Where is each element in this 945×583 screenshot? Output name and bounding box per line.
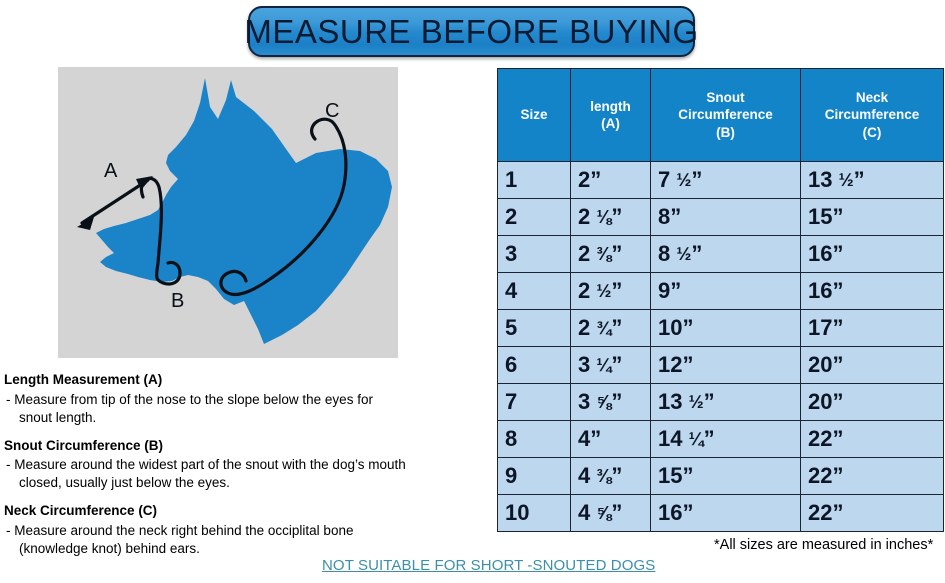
column-header-size: Size (498, 69, 571, 162)
fraction-glyph: ⅛ (596, 207, 611, 228)
column-header-neck: Neck Circumference (C) (801, 69, 944, 162)
cell-neck: 20” (801, 384, 944, 421)
cell-snout: 15” (651, 458, 801, 495)
table-row: 73 ⅝”13 ½”20” (498, 384, 944, 421)
instruction-body-neck: - Measure around the neck right behind t… (4, 522, 484, 558)
column-header-length-line2: (A) (601, 116, 620, 131)
instruction-neck-line2: (knowledge knot) behind ears. (6, 540, 484, 558)
dog-measurement-diagram: A B C (58, 67, 398, 358)
diagram-label-a: A (104, 160, 118, 182)
cell-size: 6 (498, 347, 571, 384)
cell-length: 2 ⅛” (571, 199, 651, 236)
fraction-glyph: ½ (676, 170, 691, 191)
table-row: 42 ½”9”16” (498, 273, 944, 310)
cell-length: 4 ⅜” (571, 458, 651, 495)
instruction-neck-line1: - Measure around the neck right behind t… (6, 523, 353, 538)
cell-snout: 10” (651, 310, 801, 347)
cell-neck: 17” (801, 310, 944, 347)
table-row: 63 ¼”12”20” (498, 347, 944, 384)
cell-neck: 13 ½” (801, 162, 944, 199)
cell-neck: 16” (801, 273, 944, 310)
fraction-glyph: ⅝ (596, 503, 611, 524)
cell-neck: 15” (801, 199, 944, 236)
cell-size: 1 (498, 162, 571, 199)
fraction-glyph: ⅝ (596, 392, 611, 413)
table-row: 94 ⅜”15”22” (498, 458, 944, 495)
cell-size: 5 (498, 310, 571, 347)
cell-size: 10 (498, 495, 571, 532)
cell-snout: 9” (651, 273, 801, 310)
size-chart-table: Size length (A) Snout Circumference (B) … (497, 68, 944, 532)
instruction-group-snout: Snout Circumference (B) - Measure around… (4, 438, 484, 493)
table-row: 104 ⅝”16”22” (498, 495, 944, 532)
page-title: MEASURE BEFORE BUYING (244, 13, 698, 51)
table-row: 84”14 ¼”22” (498, 421, 944, 458)
fraction-glyph: ¼ (596, 355, 611, 376)
column-header-size-line1: Size (520, 107, 547, 122)
instruction-heading-length: Length Measurement (A) (4, 372, 484, 389)
instruction-group-neck: Neck Circumference (C) - Measure around … (4, 503, 484, 558)
column-header-snout-line2: Circumference (678, 107, 773, 122)
units-note: *All sizes are measured in inches* (714, 537, 933, 553)
fraction-glyph: ¾ (596, 318, 611, 339)
cell-snout: 7 ½” (651, 162, 801, 199)
column-header-neck-line1: Neck (856, 90, 888, 105)
cell-size: 3 (498, 236, 571, 273)
cell-length: 2 ½” (571, 273, 651, 310)
table-row: 12”7 ½”13 ½” (498, 162, 944, 199)
table-row: 32 ⅜”8 ½”16” (498, 236, 944, 273)
cell-length: 4 ⅝” (571, 495, 651, 532)
cell-length: 2 ¾” (571, 310, 651, 347)
cell-size: 7 (498, 384, 571, 421)
size-chart-header: Size length (A) Snout Circumference (B) … (498, 69, 944, 162)
column-header-neck-line3: (C) (863, 125, 882, 140)
instruction-group-length: Length Measurement (A) - Measure from ti… (4, 372, 484, 427)
instruction-body-snout: - Measure around the widest part of the … (4, 456, 484, 492)
cell-length: 2 ⅜” (571, 236, 651, 273)
diagram-label-c: C (325, 100, 339, 122)
cell-snout: 8 ½” (651, 236, 801, 273)
instruction-snout-line1: - Measure around the widest part of the … (6, 457, 406, 472)
column-header-snout: Snout Circumference (B) (651, 69, 801, 162)
header-row: Size length (A) Snout Circumference (B) … (498, 69, 944, 162)
fraction-glyph: ⅜ (596, 466, 611, 487)
instruction-snout-line2: closed, usually just below the eyes. (6, 474, 484, 492)
diagram-label-b: B (171, 290, 184, 312)
column-header-length: length (A) (571, 69, 651, 162)
cell-snout: 14 ¼” (651, 421, 801, 458)
cell-size: 9 (498, 458, 571, 495)
cell-neck: 22” (801, 421, 944, 458)
cell-size: 4 (498, 273, 571, 310)
cell-length: 3 ⅝” (571, 384, 651, 421)
size-chart-body: 12”7 ½”13 ½”22 ⅛”8”15”32 ⅜”8 ½”16”42 ½”9… (498, 162, 944, 532)
fraction-glyph: ½ (596, 281, 611, 302)
dog-head-silhouette (96, 78, 392, 344)
instruction-length-line2: snout length. (6, 409, 484, 427)
measurement-arrow-a (82, 180, 148, 223)
measurement-instructions: Length Measurement (A) - Measure from ti… (4, 372, 484, 569)
cell-neck: 22” (801, 495, 944, 532)
table-row: 52 ¾”10”17” (498, 310, 944, 347)
instruction-heading-neck: Neck Circumference (C) (4, 503, 484, 520)
fraction-glyph: ¼ (689, 429, 704, 450)
instruction-length-line1: - Measure from tip of the nose to the sl… (6, 392, 373, 407)
cell-size: 8 (498, 421, 571, 458)
cell-neck: 16” (801, 236, 944, 273)
title-banner: MEASURE BEFORE BUYING (248, 6, 695, 57)
fraction-glyph: ½ (676, 244, 691, 265)
column-header-snout-line3: (B) (716, 125, 735, 140)
cell-snout: 13 ½” (651, 384, 801, 421)
cell-snout: 8” (651, 199, 801, 236)
dog-diagram-svg: A B C (58, 67, 398, 358)
fraction-glyph: ⅜ (596, 244, 611, 265)
cell-length: 3 ¼” (571, 347, 651, 384)
table-row: 22 ⅛”8”15” (498, 199, 944, 236)
cell-size: 2 (498, 199, 571, 236)
cell-length: 4” (571, 421, 651, 458)
column-header-snout-line1: Snout (706, 90, 744, 105)
instruction-heading-snout: Snout Circumference (B) (4, 438, 484, 455)
cell-snout: 16” (651, 495, 801, 532)
cell-neck: 20” (801, 347, 944, 384)
cell-neck: 22” (801, 458, 944, 495)
cell-length: 2” (571, 162, 651, 199)
column-header-neck-line2: Circumference (825, 107, 920, 122)
fraction-glyph: ½ (839, 170, 854, 191)
fraction-glyph: ½ (689, 392, 704, 413)
cell-snout: 12” (651, 347, 801, 384)
instruction-body-length: - Measure from tip of the nose to the sl… (4, 391, 484, 427)
column-header-length-line1: length (590, 99, 631, 114)
not-suitable-note: NOT SUITABLE FOR SHORT -SNOUTED DOGS (322, 557, 655, 574)
